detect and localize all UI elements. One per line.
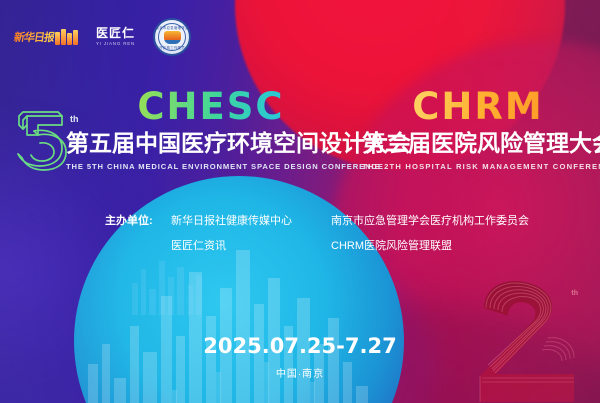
xinhua-daily-logo: 新华日报	[14, 26, 78, 48]
chrm-cn-title: 第二届医院风险管理大会	[362, 131, 594, 156]
yijiangren-logo-cn: 医匠仁	[96, 27, 135, 39]
chesc-en-title: THE 5TH CHINA MEDICAL ENVIRONMENT SPACE …	[66, 163, 356, 171]
event-date-block: 2025.07.25-7.27 中国·南京	[0, 336, 600, 380]
event-location: 中国·南京	[0, 365, 600, 380]
association-badge-logo: 南京市应急管理学会 医疗机构工作委员会	[153, 18, 191, 56]
organizers-block: 主办单位: 新华日报社健康传媒中心 南京市应急管理学会医疗机构工作委员会 医匠仁…	[105, 212, 525, 262]
sponsor-logo-row: 新华日报 医匠仁 YI JIANG REN 南京市应急管理学会 医疗机构工作委员…	[14, 18, 191, 56]
yijiangren-logo-en: YI JIANG REN	[96, 42, 135, 47]
organizer-item-4: CHRM医院风险管理联盟	[331, 237, 452, 253]
background-blob-purple	[140, 250, 440, 403]
chesc-cn-title: 第五届中国医疗环境空间设计大会	[66, 131, 356, 156]
edition-numeral-5: th	[14, 110, 70, 172]
conference-titles: th CHESC 第五届中国医疗环境空间设计大会 THE 5TH CHINA M…	[0, 88, 600, 188]
yijiangren-logo: 医匠仁 YI JIANG REN	[96, 27, 135, 47]
calendar-blocks-icon	[55, 29, 78, 45]
event-date: 2025.07.25-7.27	[0, 336, 600, 357]
conference-poster: 新华日报 医匠仁 YI JIANG REN 南京市应急管理学会 医疗机构工作委员…	[0, 0, 600, 403]
organizers-label: 主办单位:	[105, 212, 171, 228]
organizers-row-2: 医匠仁资讯 CHRM医院风险管理联盟	[105, 237, 525, 253]
organizer-item-1: 新华日报社健康传媒中心	[171, 212, 331, 228]
organizer-item-2: 南京市应急管理学会医疗机构工作委员会	[331, 212, 529, 228]
organizer-item-3: 医匠仁资讯	[171, 237, 331, 253]
chrm-acronym: CHRM	[362, 88, 594, 125]
xinhua-daily-logo-text: 新华日报	[13, 29, 55, 45]
conference-chesc: CHESC 第五届中国医疗环境空间设计大会 THE 5TH CHINA MEDI…	[66, 88, 356, 171]
organizers-row-1: 主办单位: 新华日报社健康传媒中心 南京市应急管理学会医疗机构工作委员会	[105, 212, 525, 228]
city-skyline-secondary	[130, 255, 208, 315]
badge-top-text: 南京市应急管理学会	[155, 25, 189, 30]
decorative-numeral-suffix: th	[571, 290, 578, 297]
badge-bottom-text: 医疗机构工作委员会	[155, 45, 189, 50]
conference-chrm: CHRM 第二届医院风险管理大会 THE 2TH HOSPITAL RISK M…	[362, 88, 594, 171]
chesc-acronym: CHESC	[66, 88, 356, 125]
chrm-en-title: THE 2TH HOSPITAL RISK MANAGEMENT CONFERE…	[362, 163, 594, 171]
